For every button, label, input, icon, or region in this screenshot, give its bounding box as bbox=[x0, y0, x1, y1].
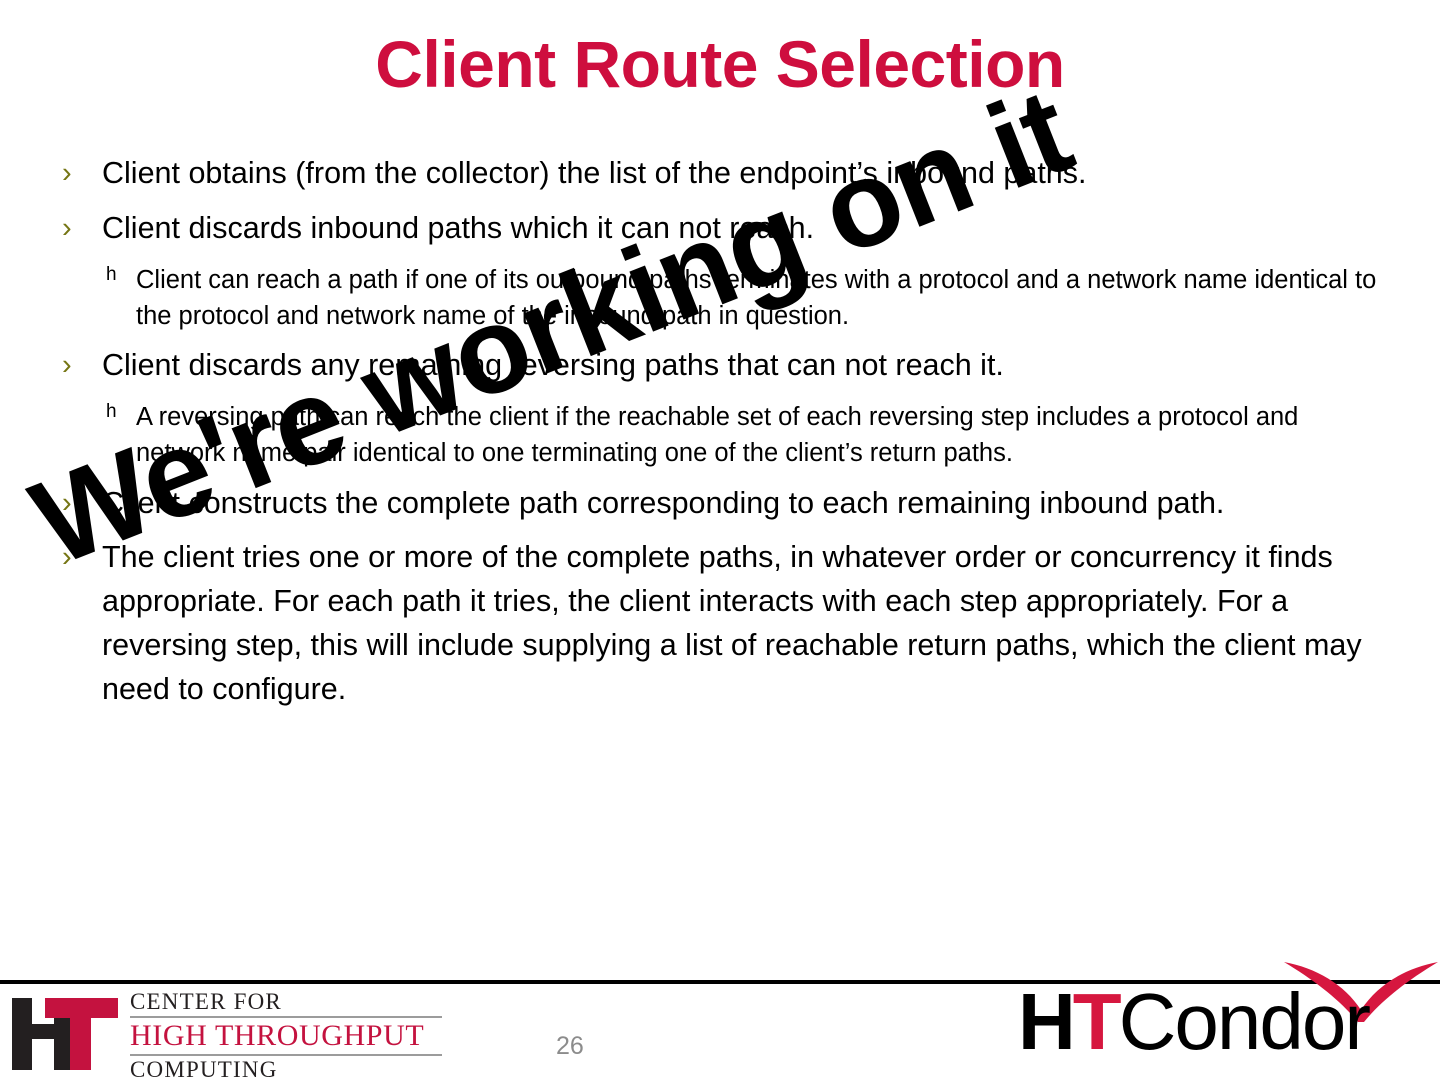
bullet-text: Client constructs the complete path corr… bbox=[102, 486, 1224, 520]
bullet-text: The client tries one or more of the comp… bbox=[102, 540, 1362, 706]
h-bullet-icon: h bbox=[106, 260, 117, 290]
chtc-wordmark: CENTER FOR HIGH THROUGHPUT COMPUTING bbox=[130, 990, 442, 1080]
bullet-text: Client discards any remaining reversing … bbox=[102, 348, 1004, 382]
htcondor-wordmark: HTCondor bbox=[1018, 982, 1369, 1062]
bullet-text: Client discards inbound paths which it c… bbox=[102, 211, 814, 245]
htcondor-logo: HTCondor bbox=[1018, 962, 1430, 1074]
bullet-item: › Client discards any remaining reversin… bbox=[58, 344, 1388, 388]
slide-body: › Client obtains (from the collector) th… bbox=[58, 152, 1388, 723]
htcondor-letter-h: H bbox=[1018, 977, 1073, 1066]
page-number: 26 bbox=[556, 1032, 584, 1061]
page-title: Client Route Selection bbox=[0, 30, 1440, 99]
chevron-bullet-icon: › bbox=[62, 345, 72, 387]
chevron-bullet-icon: › bbox=[62, 208, 72, 250]
bullet-item: › Client constructs the complete path co… bbox=[58, 482, 1388, 526]
bullet-item: › The client tries one or more of the co… bbox=[58, 536, 1388, 712]
chtc-line-computing: COMPUTING bbox=[130, 1056, 442, 1080]
htcondor-word-condor: Condor bbox=[1119, 977, 1369, 1066]
sub-bullet-text: A reversing path can reach the client if… bbox=[136, 403, 1298, 467]
bullet-item: › Client obtains (from the collector) th… bbox=[58, 152, 1388, 196]
chtc-line-high-throughput: HIGH THROUGHPUT bbox=[130, 1018, 442, 1054]
sub-bullet-text: Client can reach a path if one of its ou… bbox=[136, 266, 1376, 330]
chevron-bullet-icon: › bbox=[62, 483, 72, 525]
h-bullet-icon: h bbox=[106, 397, 117, 427]
bullet-text: Client obtains (from the collector) the … bbox=[102, 156, 1086, 190]
chevron-bullet-icon: › bbox=[62, 153, 72, 195]
ht-monogram-icon bbox=[12, 992, 122, 1070]
chtc-logo: CENTER FOR HIGH THROUGHPUT COMPUTING bbox=[12, 990, 442, 1072]
htcondor-letter-t: T bbox=[1073, 977, 1119, 1066]
chtc-line-center-for: CENTER FOR bbox=[130, 990, 442, 1016]
slide-canvas: Client Route Selection › Client obtains … bbox=[0, 0, 1440, 1080]
sub-bullet-item: h Client can reach a path if one of its … bbox=[58, 262, 1388, 334]
bullet-item: › Client discards inbound paths which it… bbox=[58, 207, 1388, 251]
chevron-bullet-icon: › bbox=[62, 537, 72, 579]
sub-bullet-item: h A reversing path can reach the client … bbox=[58, 399, 1388, 471]
